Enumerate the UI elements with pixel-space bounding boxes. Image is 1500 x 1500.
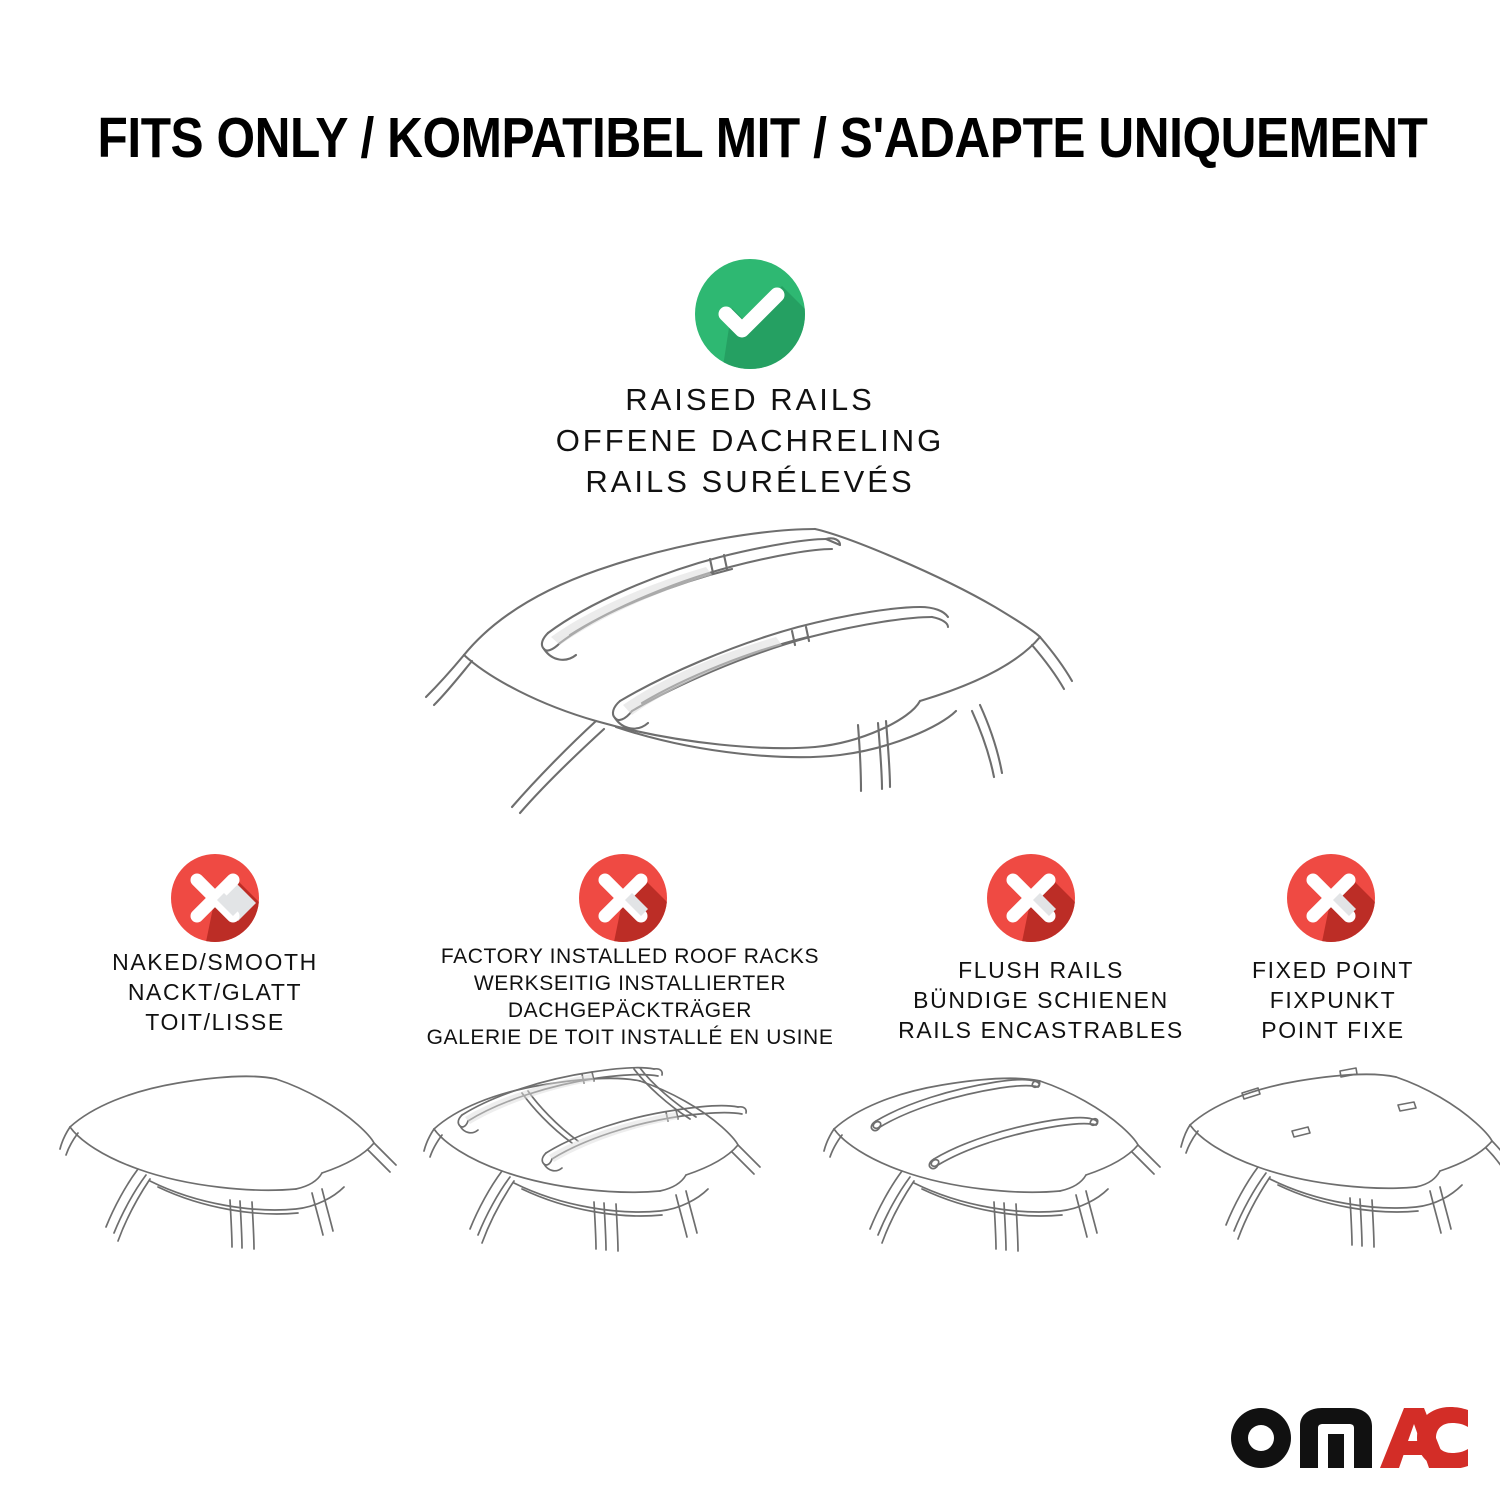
logo-letter-m bbox=[1300, 1408, 1372, 1468]
incompatible-label-factory-roof-racks: FACTORY INSTALLED ROOF RACKS WERKSEITIG … bbox=[390, 944, 870, 1052]
roof-naked-smooth-diagram bbox=[58, 1055, 408, 1285]
cross-circle-icon bbox=[976, 850, 1086, 950]
incompatible-label-flush-rails: FLUSH RAILS BÜNDIGE SCHIENEN RAILS ENCAS… bbox=[855, 956, 1227, 1046]
logo-letter-o bbox=[1231, 1408, 1291, 1468]
incompatible-label-naked-smooth: NAKED/SMOOTH NACKT/GLATT TOIT/LISSE bbox=[25, 948, 405, 1038]
incompatible-label-line-2: BÜNDIGE SCHIENEN bbox=[855, 986, 1227, 1016]
roof-factory-racks-diagram bbox=[420, 1055, 780, 1285]
roof-raised-rails-diagram bbox=[420, 515, 1080, 815]
incompatible-label-line-2: NACKT/GLATT bbox=[25, 978, 405, 1008]
cross-circle-icon bbox=[568, 850, 678, 950]
compatible-label-line-1: RAISED RAILS bbox=[350, 380, 1150, 421]
compatible-label: RAISED RAILS OFFENE DACHRELING RAILS SUR… bbox=[350, 380, 1150, 503]
incompatible-label-line-3: POINT FIXE bbox=[1188, 1016, 1478, 1046]
incompatible-label-line-1: NAKED/SMOOTH bbox=[25, 948, 405, 978]
page-title: FITS ONLY / KOMPATIBEL MIT / S'ADAPTE UN… bbox=[98, 105, 1403, 171]
incompatible-label-line-3: DACHGEPÄCKTRÄGER bbox=[390, 998, 870, 1025]
compatible-label-line-3: RAILS SURÉLEVÉS bbox=[350, 462, 1150, 503]
incompatible-label-line-2: WERKSEITIG INSTALLIERTER bbox=[390, 971, 870, 998]
cross-circle-icon bbox=[1276, 850, 1386, 950]
cross-circle-icon bbox=[160, 850, 270, 950]
incompatible-label-line-1: FIXED POINT bbox=[1188, 956, 1478, 986]
incompatible-label-line-3: TOIT/LISSE bbox=[25, 1008, 405, 1038]
check-circle-icon bbox=[672, 258, 828, 374]
roof-flush-rails-diagram bbox=[820, 1055, 1180, 1285]
omac-logo bbox=[1228, 1398, 1468, 1468]
incompatible-label-line-1: FACTORY INSTALLED ROOF RACKS bbox=[390, 944, 870, 971]
roof-fixed-point-diagram bbox=[1180, 1055, 1500, 1285]
incompatible-label-line-2: FIXPUNKT bbox=[1188, 986, 1478, 1016]
incompatible-label-line-3: RAILS ENCASTRABLES bbox=[855, 1016, 1227, 1046]
fitment-infographic: FITS ONLY / KOMPATIBEL MIT / S'ADAPTE UN… bbox=[0, 0, 1500, 1500]
compatible-label-line-2: OFFENE DACHRELING bbox=[350, 421, 1150, 462]
incompatible-label-fixed-point: FIXED POINT FIXPUNKT POINT FIXE bbox=[1188, 956, 1478, 1046]
incompatible-label-line-4: GALERIE DE TOIT INSTALLÉ EN USINE bbox=[390, 1025, 870, 1052]
incompatible-label-line-1: FLUSH RAILS bbox=[855, 956, 1227, 986]
